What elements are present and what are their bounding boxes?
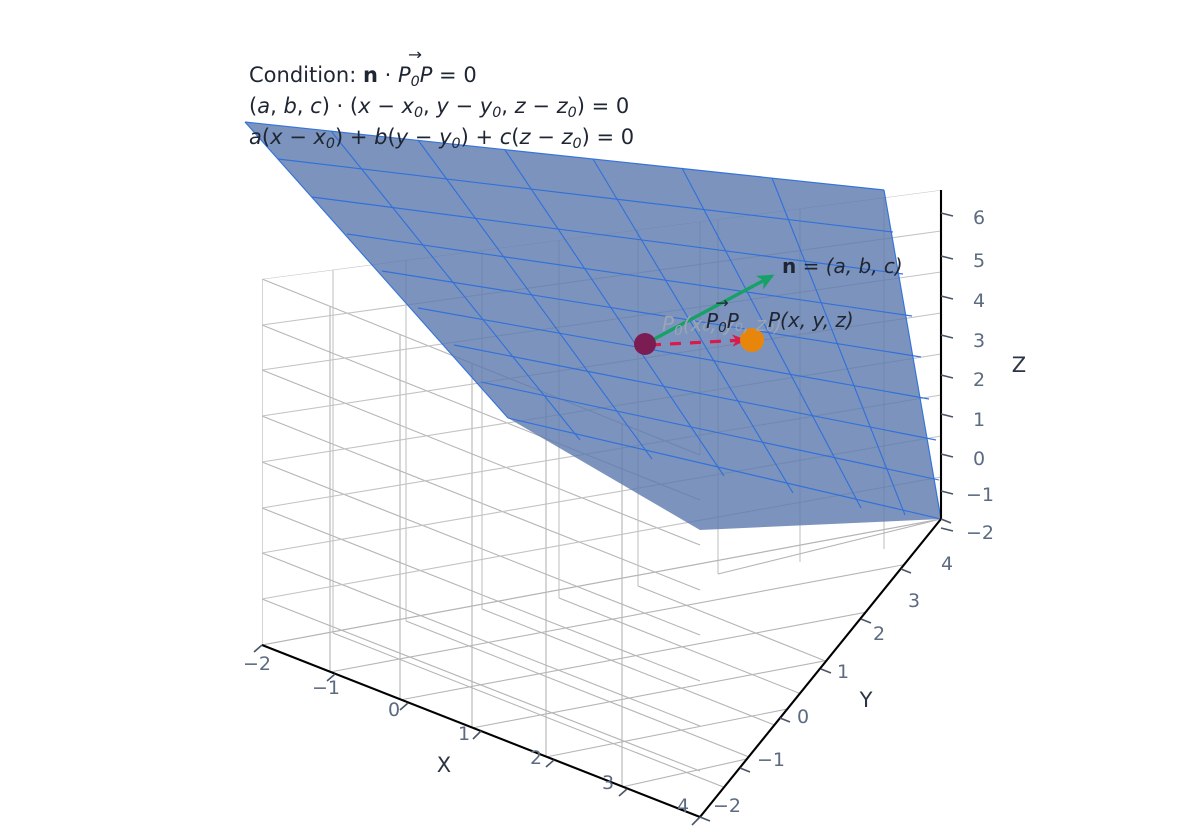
normal-vector-symbol: n: [782, 254, 796, 278]
z-tick-label: 6: [973, 207, 985, 229]
y-axis-label: Y: [859, 688, 873, 712]
y-tick-label: −2: [713, 795, 741, 817]
z-axis-label: Z: [1012, 353, 1026, 377]
x-tick-label: 3: [602, 772, 614, 794]
y-tick-label: 0: [797, 706, 809, 728]
equation-line-expanded: a(x − x0) + b(y − y0) + c(z − z0) = 0: [249, 122, 634, 153]
z-tick-label: 4: [973, 290, 985, 312]
normal-vector-label: n = (a, b, c): [782, 254, 903, 278]
y-tick-label: 1: [837, 661, 849, 683]
y-tick-label: 2: [873, 623, 885, 645]
x-tick-label: 4: [677, 795, 689, 817]
x-axis-label: X: [437, 753, 451, 777]
condition-prefix: Condition:: [249, 63, 363, 87]
z-tick-label: 0: [973, 448, 985, 470]
vector-p0p-label: P0P: [706, 309, 739, 336]
y-tick-label: −1: [757, 749, 785, 771]
x-tick-label: −1: [312, 677, 340, 699]
equation-line-condition: Condition: n · P0P = 0: [249, 60, 634, 91]
normal-vector-components: = (a, b, c): [796, 254, 902, 278]
figure-canvas: Finding the equation of a plane using th…: [0, 0, 1187, 832]
x-tick-label: 2: [530, 747, 542, 769]
z-tick-label: −2: [966, 522, 994, 544]
condition-equals-zero: = 0: [432, 63, 476, 87]
z-tick-label: 3: [973, 330, 985, 352]
equation-block: Condition: n · P0P = 0 (a, b, c) · (x − …: [249, 60, 634, 153]
y-tick-label: 4: [941, 553, 953, 575]
z-tick-label: 2: [973, 369, 985, 391]
x-tick-label: −2: [243, 653, 271, 675]
z-tick-label: −1: [966, 484, 994, 506]
point-p-label: P(x, y, z): [768, 308, 854, 332]
condition-vector-p0p: P0P: [398, 60, 432, 98]
condition-normal-symbol: n: [363, 63, 378, 87]
condition-dot: ·: [378, 63, 398, 87]
x-tick-label: 1: [458, 723, 470, 745]
point-p0-marker: [634, 333, 656, 355]
y-tick-label: 3: [908, 590, 920, 612]
z-tick-label: 1: [973, 409, 985, 431]
equation-line-dot-product: (a, b, c) · (x − x0, y − y0, z − z0) = 0: [249, 91, 634, 122]
x-tick-label: 0: [388, 699, 400, 721]
z-tick-label: 5: [973, 250, 985, 272]
